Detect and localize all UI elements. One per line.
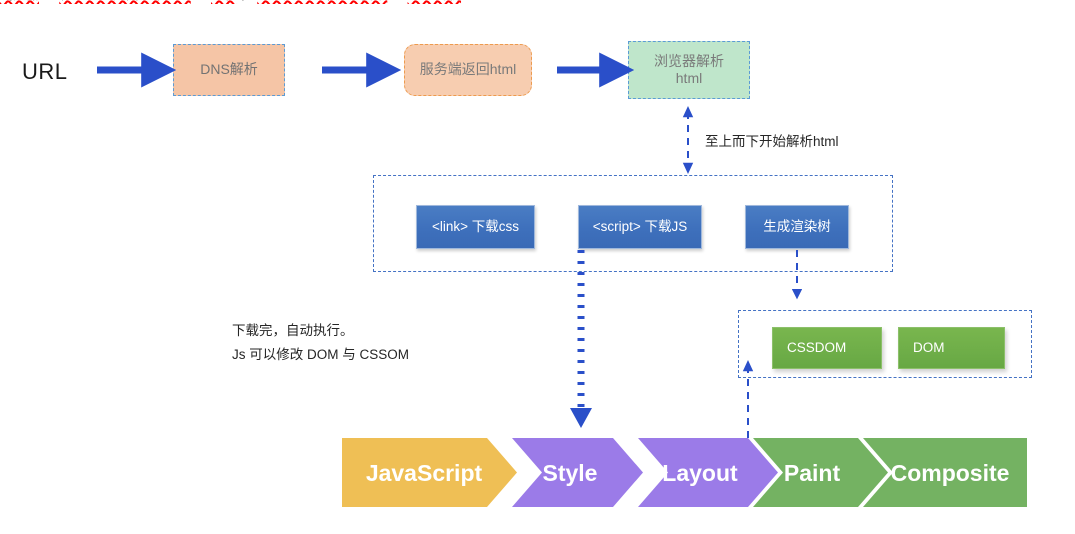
- rendering-pipeline: JavaScript Style Layout Paint Composite: [0, 0, 1075, 534]
- diagram-canvas: 浏览器 从 输入url到页面渲染完成 的 过程 ， 主要分为以下几个阶段 ： D…: [0, 0, 1075, 534]
- pipeline-stage-javascript[interactable]: JavaScript: [342, 438, 517, 507]
- pipeline-stage-paint-label: Paint: [784, 460, 841, 486]
- pipeline-stage-composite-label: Composite: [891, 460, 1010, 486]
- pipeline-stage-layout[interactable]: Layout: [638, 438, 778, 507]
- pipeline-stage-style[interactable]: Style: [512, 438, 643, 507]
- pipeline-stage-style-label: Style: [543, 460, 598, 486]
- pipeline-stage-layout-label: Layout: [662, 460, 738, 486]
- pipeline-stage-javascript-label: JavaScript: [366, 460, 483, 486]
